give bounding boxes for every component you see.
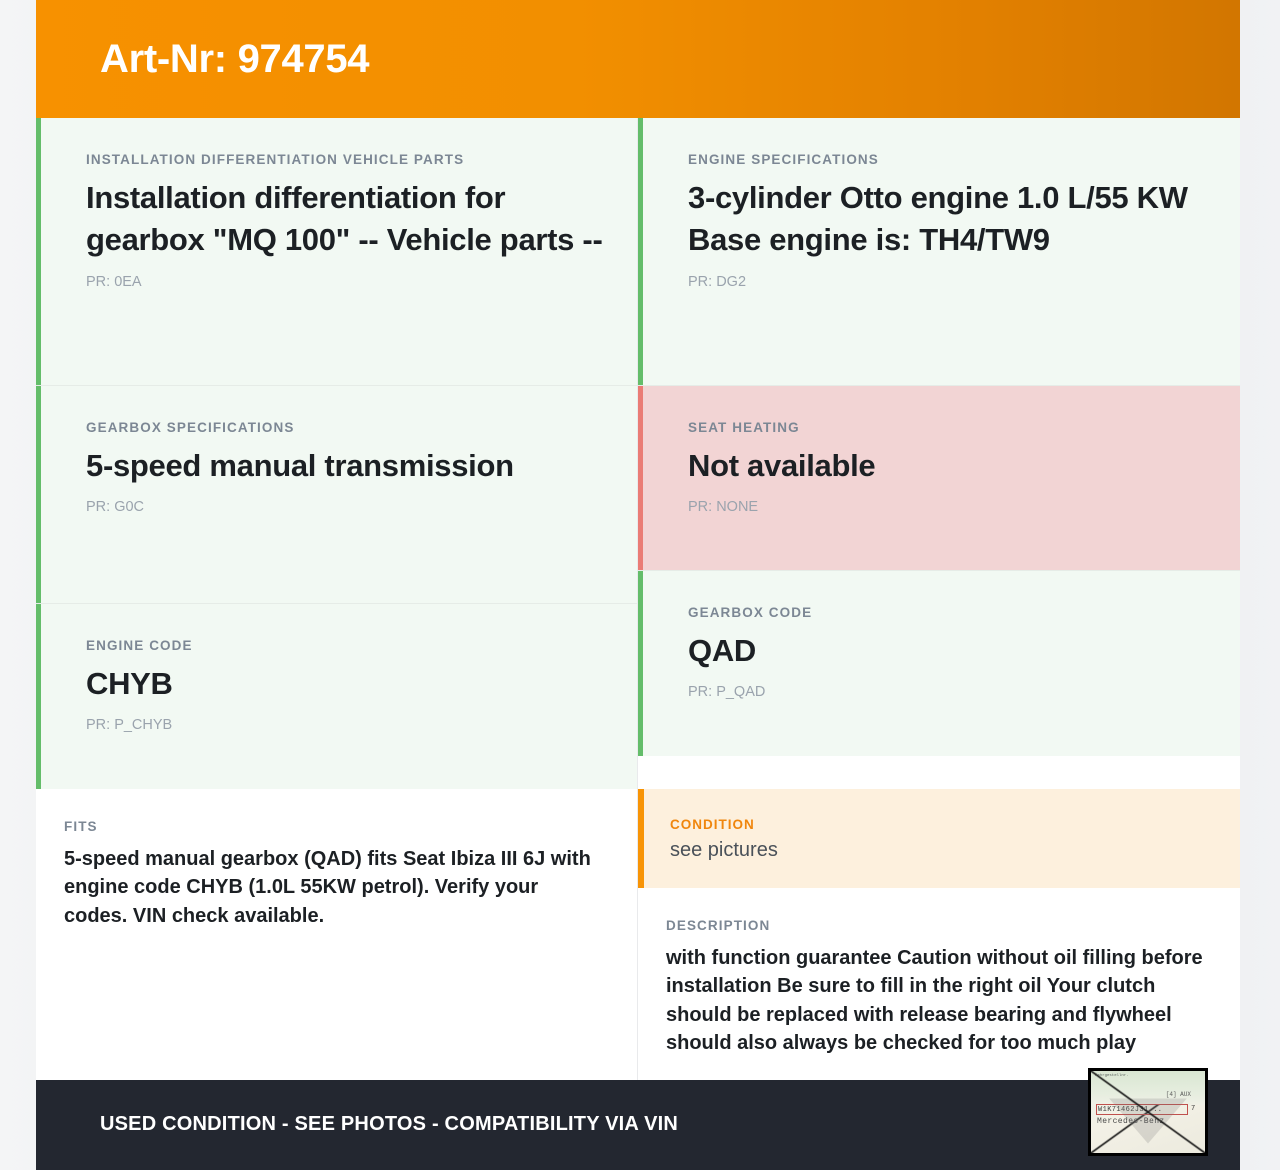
spec-card-gearbox-code: GEARBOX CODE QAD PR: P_QAD: [638, 571, 1240, 756]
spec-grid: INSTALLATION DIFFERENTIATION VEHICLE PAR…: [36, 118, 1240, 789]
spec-label: GEARBOX SPECIFICATIONS: [86, 420, 607, 435]
thumb-brand: Mercedes-Benz: [1097, 1117, 1165, 1126]
spec-label: SEAT HEATING: [688, 420, 1210, 435]
description-text: with function guarantee Caution without …: [666, 944, 1204, 1058]
thumb-caption: Fahrgestellnr.: [1095, 1074, 1129, 1078]
right-prose-stack: CONDITION see pictures DESCRIPTION with …: [638, 789, 1240, 1080]
spec-value: CHYB: [86, 663, 607, 705]
envelope-flap-shadow: [1109, 1098, 1187, 1143]
listing-sheet: Art-Nr: 974754 INSTALLATION DIFFERENTIAT…: [36, 0, 1240, 1100]
footer-text: USED CONDITION - SEE PHOTOS - COMPATIBIL…: [36, 1113, 678, 1136]
spec-pr-code: PR: NONE: [688, 499, 1210, 515]
footer-bar: USED CONDITION - SEE PHOTOS - COMPATIBIL…: [36, 1080, 1240, 1170]
spec-value: Not available: [688, 445, 1210, 487]
condition-value: see pictures: [670, 839, 1210, 862]
condition-banner: CONDITION see pictures: [638, 789, 1240, 888]
spec-card-installation-differentiation: INSTALLATION DIFFERENTIATION VEHICLE PAR…: [36, 118, 637, 386]
prose-row: FITS 5-speed manual gearbox (QAD) fits S…: [36, 789, 1240, 1080]
spec-value: 3-cylinder Otto engine 1.0 L/55 KW Base …: [688, 177, 1210, 262]
spec-column-left: INSTALLATION DIFFERENTIATION VEHICLE PAR…: [36, 118, 638, 789]
description-section: DESCRIPTION with function guarantee Caut…: [638, 888, 1240, 1080]
fits-text: 5-speed manual gearbox (QAD) fits Seat I…: [64, 845, 601, 930]
vin-document-thumbnail[interactable]: Fahrgestellnr. [4] AUX W1K71462J31... 7 …: [1088, 1068, 1208, 1156]
spec-value: Installation differentiation for gearbox…: [86, 177, 607, 262]
spec-pr-code: PR: 0EA: [86, 274, 607, 290]
spec-pr-code: PR: G0C: [86, 499, 607, 515]
spec-pr-code: PR: P_CHYB: [86, 717, 607, 733]
fits-section: FITS 5-speed manual gearbox (QAD) fits S…: [36, 789, 638, 1080]
spec-value: QAD: [688, 630, 1210, 672]
spec-card-gearbox-specifications: GEARBOX SPECIFICATIONS 5-speed manual tr…: [36, 386, 637, 604]
thumb-vin: W1K71462J31...: [1096, 1104, 1188, 1115]
spec-card-engine-specifications: ENGINE SPECIFICATIONS 3-cylinder Otto en…: [638, 118, 1240, 386]
envelope-icon: Fahrgestellnr. [4] AUX W1K71462J31... 7 …: [1091, 1071, 1205, 1153]
spec-label: ENGINE SPECIFICATIONS: [688, 152, 1210, 167]
spec-value: 5-speed manual transmission: [86, 445, 607, 487]
thumb-vin-tail: 7: [1191, 1104, 1195, 1114]
page-title: Art-Nr: 974754: [36, 37, 369, 82]
spec-card-engine-code: ENGINE CODE CHYB PR: P_CHYB: [36, 604, 637, 789]
condition-label: CONDITION: [670, 817, 1210, 832]
spec-card-seat-heating: SEAT HEATING Not available PR: NONE: [638, 386, 1240, 571]
fits-label: FITS: [64, 819, 601, 834]
spec-label: INSTALLATION DIFFERENTIATION VEHICLE PAR…: [86, 152, 607, 167]
spec-label: ENGINE CODE: [86, 638, 607, 653]
spec-pr-code: PR: P_QAD: [688, 684, 1210, 700]
thumb-code: [4] AUX: [1166, 1091, 1191, 1098]
spec-pr-code: PR: DG2: [688, 274, 1210, 290]
spec-label: GEARBOX CODE: [688, 605, 1210, 620]
header-bar: Art-Nr: 974754: [36, 0, 1240, 118]
description-label: DESCRIPTION: [666, 918, 1204, 933]
spec-column-right: ENGINE SPECIFICATIONS 3-cylinder Otto en…: [638, 118, 1240, 789]
